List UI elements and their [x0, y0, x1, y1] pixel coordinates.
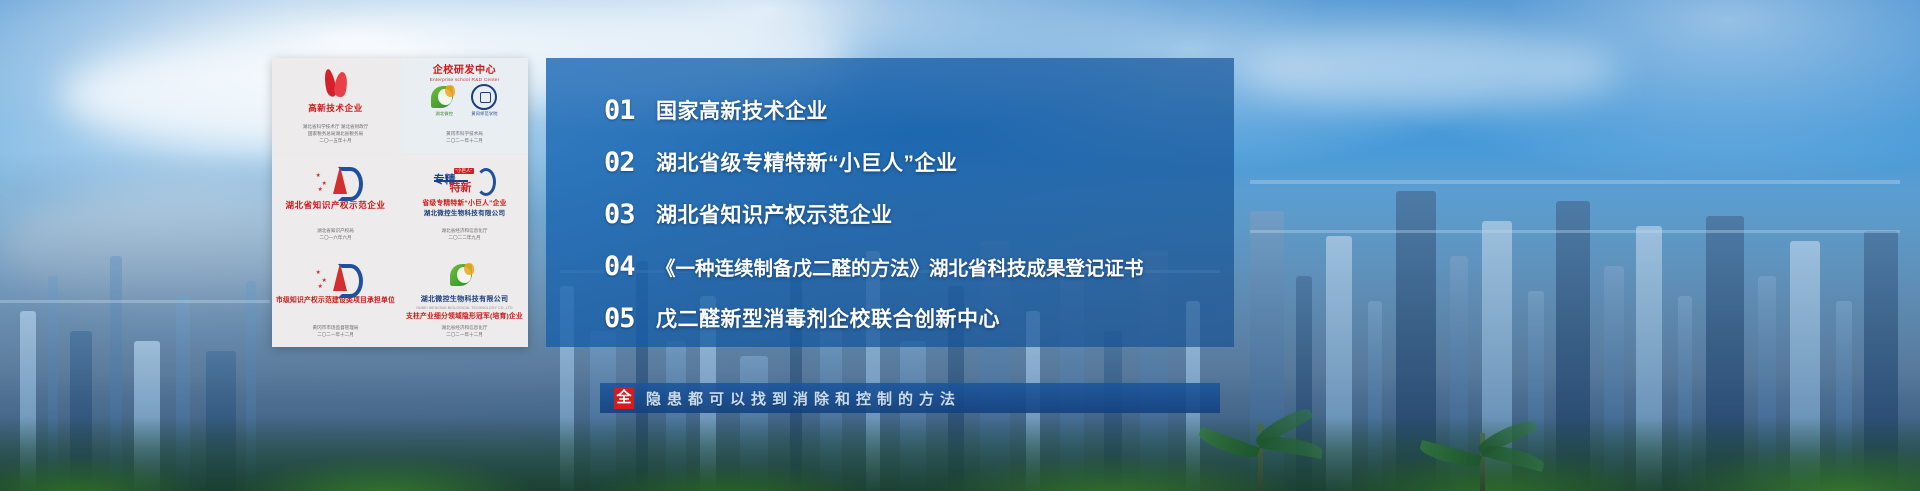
- list-item[interactable]: 01 国家高新技术企业: [604, 84, 1224, 136]
- honor-label: 国家高新技术企业: [656, 95, 828, 125]
- honor-label: 湖北省级专精特新“小巨人”企业: [656, 147, 958, 177]
- safety-slogan-banner: 全 隐患都可以找到消除和控制的方法: [600, 383, 1220, 413]
- foreground-greenery: [0, 417, 1920, 491]
- red-flame-icon: [323, 66, 349, 100]
- partner-logos: 湖北微控 黄冈师范学院: [431, 85, 497, 115]
- certificate-english: HUBEI WEIKONG BIOLOGICAL TECHNOLOGY CO.,…: [416, 306, 512, 310]
- slogan-text: 隐患都可以找到消除和控制的方法: [634, 388, 1220, 409]
- certificate-meta: 黄冈市科学技术局 二〇二一年十二月: [446, 131, 483, 149]
- certificate-card[interactable]: 专精“小巨人”特新 省级专精特新“小巨人”企业 湖北微控生物科技有限公司 湖北省…: [401, 155, 528, 250]
- university-emblem-icon: [471, 84, 497, 110]
- ip-sail-icon: ★★★: [316, 163, 356, 197]
- list-item[interactable]: 04 《一种连续制备戊二醛的方法》湖北省科技成果登记证书: [604, 240, 1224, 292]
- honor-number: 01: [604, 95, 656, 126]
- certificate-title: 支柱产业细分领域隐形冠军(培育)企业: [406, 313, 523, 321]
- honor-label: 《一种连续制备戊二醛的方法》湖北省科技成果登记证书: [656, 252, 1144, 281]
- hero-banner: 全 隐患都可以找到消除和控制的方法 高新技术企业 湖北省科学技术厅 湖北省财政厅…: [0, 0, 1920, 491]
- honor-number: 05: [604, 303, 656, 334]
- weikong-leaf-icon: [450, 260, 480, 294]
- certificate-meta: 湖北省科学技术厅 湖北省财政厅 国家税务总局湖北省税务局 二〇一五年十月: [303, 124, 369, 149]
- honors-panel: 01 国家高新技术企业 02 湖北省级专精特新“小巨人”企业 03 湖北省知识产…: [546, 58, 1234, 347]
- certificate-title: 高新技术企业: [308, 103, 363, 113]
- honor-label: 湖北省知识产权示范企业: [656, 199, 893, 229]
- slogan-badge: 全: [614, 387, 634, 409]
- certificate-title: 省级专精特新“小巨人”企业: [422, 200, 506, 208]
- certificate-company: 湖北微控生物科技有限公司: [421, 296, 509, 305]
- certificate-grid: 高新技术企业 湖北省科学技术厅 湖北省财政厅 国家税务总局湖北省税务局 二〇一五…: [272, 58, 528, 347]
- honor-number: 04: [604, 251, 656, 282]
- honor-label: 戊二醛新型消毒剂企校联合创新中心: [656, 303, 1000, 333]
- certificate-meta: 湖北省经济和信息化厅 二〇二一年十二月: [442, 325, 488, 343]
- list-item[interactable]: 03 湖北省知识产权示范企业: [604, 188, 1224, 240]
- certificate-card[interactable]: ★★★ 市级知识产权示范建设类项目承担单位 黄冈市市场监督管理局 二〇二一年十二…: [272, 252, 399, 347]
- certificate-meta: 湖北省经济和信息化厅 二〇二二年九月: [442, 228, 488, 246]
- certificate-meta: 湖北省知识产权局 二〇一六年六月: [317, 228, 354, 246]
- honor-number: 02: [604, 147, 656, 178]
- certificate-card[interactable]: ★★★ 湖北省知识产权示范企业 湖北省知识产权局 二〇一六年六月: [272, 155, 399, 250]
- certificate-title: 市级知识产权示范建设类项目承担单位: [276, 297, 395, 305]
- ip-sail-icon: ★★★: [316, 260, 356, 294]
- honor-number: 03: [604, 199, 656, 230]
- certificate-subtitle: 湖北微控生物科技有限公司: [424, 210, 506, 218]
- certificate-meta: 黄冈市市场监督管理局 二〇二一年十二月: [313, 325, 359, 343]
- university-logo-caption: 黄冈师范学院: [471, 111, 497, 117]
- certificate-card[interactable]: 高新技术企业 湖北省科学技术厅 湖北省财政厅 国家税务总局湖北省税务局 二〇一五…: [272, 58, 399, 153]
- zhuanjing-texin-icon: 专精“小巨人”特新: [434, 163, 496, 197]
- list-item[interactable]: 02 湖北省级专精特新“小巨人”企业: [604, 136, 1224, 188]
- certificate-card[interactable]: 企校研发中心 Enterprise school R&D Center 湖北微控…: [401, 58, 528, 153]
- certificate-title: 湖北省知识产权示范企业: [285, 200, 385, 210]
- certificate-english: Enterprise school R&D Center: [430, 78, 500, 83]
- certificate-title: 企校研发中心: [433, 65, 497, 77]
- weikong-logo-caption: 湖北微控: [436, 111, 454, 117]
- list-item[interactable]: 05 戊二醛新型消毒剂企校联合创新中心: [604, 292, 1224, 344]
- honors-list: 01 国家高新技术企业 02 湖北省级专精特新“小巨人”企业 03 湖北省知识产…: [604, 84, 1224, 344]
- certificate-card[interactable]: 湖北微控生物科技有限公司 HUBEI WEIKONG BIOLOGICAL TE…: [401, 252, 528, 347]
- cloud-wisp: [1240, 30, 1620, 110]
